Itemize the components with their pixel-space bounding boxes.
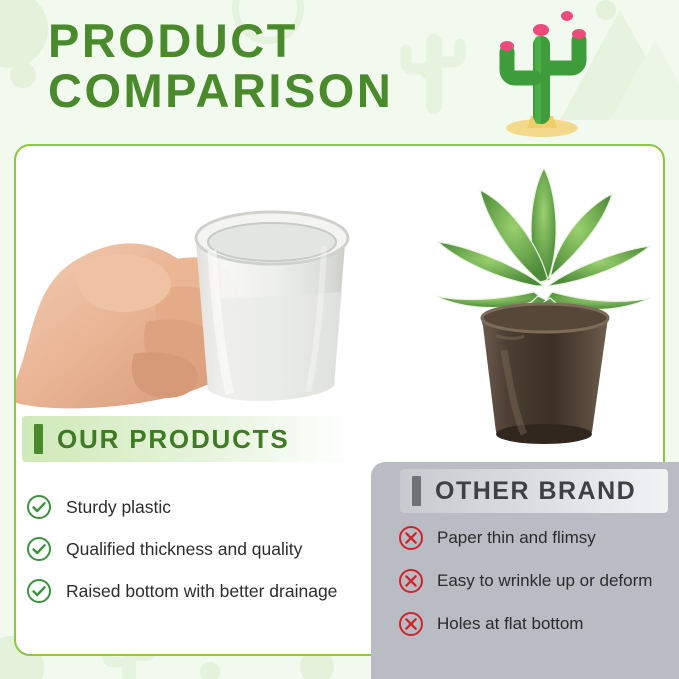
other-brand-heading: OTHER BRAND <box>400 469 668 513</box>
list-item-label: Paper thin and flimsy <box>437 528 596 548</box>
our-products-heading: OUR PRODUCTS <box>22 416 352 462</box>
cross-circle-icon <box>398 611 424 637</box>
other-brand-list: Paper thin and flimsy Easy to wrinkle up… <box>398 516 673 645</box>
list-item: Easy to wrinkle up or deform <box>398 559 673 602</box>
our-product-photo <box>16 150 366 410</box>
list-item-label: Easy to wrinkle up or deform <box>437 571 652 591</box>
other-brand-accent-bar <box>412 476 421 506</box>
product-comparison-page: PRODUCT COMPARISON <box>0 0 679 679</box>
page-title-line2: COMPARISON <box>48 66 518 116</box>
list-item: Raised bottom with better drainage <box>26 570 371 612</box>
list-item-label: Qualified thickness and quality <box>66 539 302 560</box>
list-item-label: Raised bottom with better drainage <box>66 581 337 602</box>
cactus-icon <box>487 6 597 138</box>
list-item: Holes at flat bottom <box>398 602 673 645</box>
our-products-list: Sturdy plastic Qualified thickness and q… <box>26 486 371 612</box>
page-title-line1: PRODUCT <box>48 16 518 66</box>
list-item: Qualified thickness and quality <box>26 528 371 570</box>
our-products-heading-label: OUR PRODUCTS <box>57 424 290 455</box>
check-circle-icon <box>26 536 52 562</box>
our-products-accent-bar <box>34 424 43 454</box>
other-brand-heading-label: OTHER BRAND <box>435 477 636 506</box>
list-item-label: Sturdy plastic <box>66 497 171 518</box>
check-circle-icon <box>26 578 52 604</box>
cross-circle-icon <box>398 525 424 551</box>
other-brand-photo <box>420 150 670 450</box>
list-item: Sturdy plastic <box>26 486 371 528</box>
page-title: PRODUCT COMPARISON <box>48 16 518 116</box>
list-item-label: Holes at flat bottom <box>437 614 583 634</box>
list-item: Paper thin and flimsy <box>398 516 673 559</box>
cross-circle-icon <box>398 568 424 594</box>
check-circle-icon <box>26 494 52 520</box>
